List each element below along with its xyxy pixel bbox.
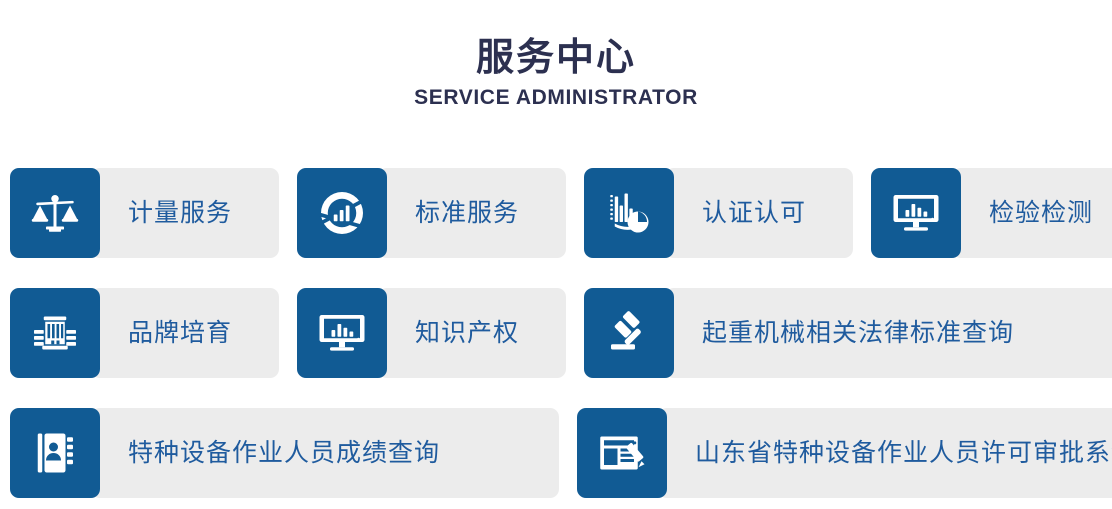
service-tile-label-box: 品牌培育 (91, 288, 279, 378)
service-tile-inspection[interactable]: 检验检测 (871, 168, 1112, 258)
service-tile-label-box: 山东省特种设备作业人员许可审批系统 (658, 408, 1112, 498)
service-tile-metrology[interactable]: 计量服务 (10, 168, 279, 258)
bank-building-icon (10, 288, 100, 378)
form-pencil-icon (577, 408, 667, 498)
service-tile-shandong-permit-system[interactable]: 山东省特种设备作业人员许可审批系统 (577, 408, 1112, 498)
service-tile-label-box: 计量服务 (91, 168, 279, 258)
service-tile-standards[interactable]: 标准服务 (297, 168, 566, 258)
gavel-icon (584, 288, 674, 378)
service-tile-certification[interactable]: 认证认可 (584, 168, 853, 258)
service-tile-label: 起重机械相关法律标准查询 (702, 321, 1014, 346)
service-tile-label: 标准服务 (415, 201, 519, 226)
service-tile-intellectual-property[interactable]: 知识产权 (297, 288, 566, 378)
id-card-book-icon (10, 408, 100, 498)
service-tile-label: 知识产权 (415, 321, 519, 346)
service-tile-label: 品牌培育 (128, 321, 232, 346)
service-tile-label: 计量服务 (128, 201, 232, 226)
page-title-cn: 服务中心 (0, 38, 1112, 80)
donut-bar-chart-icon (297, 168, 387, 258)
service-tile-label-box: 标准服务 (378, 168, 566, 258)
tile-row-3: 特种设备作业人员成绩查询 山 (10, 408, 1102, 498)
service-tile-label: 山东省特种设备作业人员许可审批系统 (695, 441, 1112, 466)
service-tile-label-box: 知识产权 (378, 288, 566, 378)
bar-chart-pie-icon (584, 168, 674, 258)
service-tile-label: 特种设备作业人员成绩查询 (128, 441, 440, 466)
service-tile-operator-score-query[interactable]: 特种设备作业人员成绩查询 (10, 408, 559, 498)
service-tile-label-box: 认证认可 (665, 168, 853, 258)
monitor-bar-chart-icon (297, 288, 387, 378)
page-title-en: SERVICE ADMINISTRATOR (0, 86, 1112, 109)
page-header: 服务中心 SERVICE ADMINISTRATOR (0, 0, 1112, 109)
service-tile-brand-cultivation[interactable]: 品牌培育 (10, 288, 279, 378)
service-tile-label: 检验检测 (989, 201, 1093, 226)
balance-scales-icon (10, 168, 100, 258)
service-tile-label-box: 特种设备作业人员成绩查询 (91, 408, 559, 498)
service-tile-label-box: 检验检测 (952, 168, 1112, 258)
tile-row-2: 品牌培育 知识产权 (10, 288, 1102, 378)
service-tile-label-box: 起重机械相关法律标准查询 (665, 288, 1112, 378)
service-tile-crane-law-query[interactable]: 起重机械相关法律标准查询 (584, 288, 1112, 378)
service-tile-label: 认证认可 (702, 201, 806, 226)
monitor-bar-chart-icon (871, 168, 961, 258)
service-tile-grid: 计量服务 标准服务 (10, 168, 1102, 498)
tile-row-1: 计量服务 标准服务 (10, 168, 1102, 258)
